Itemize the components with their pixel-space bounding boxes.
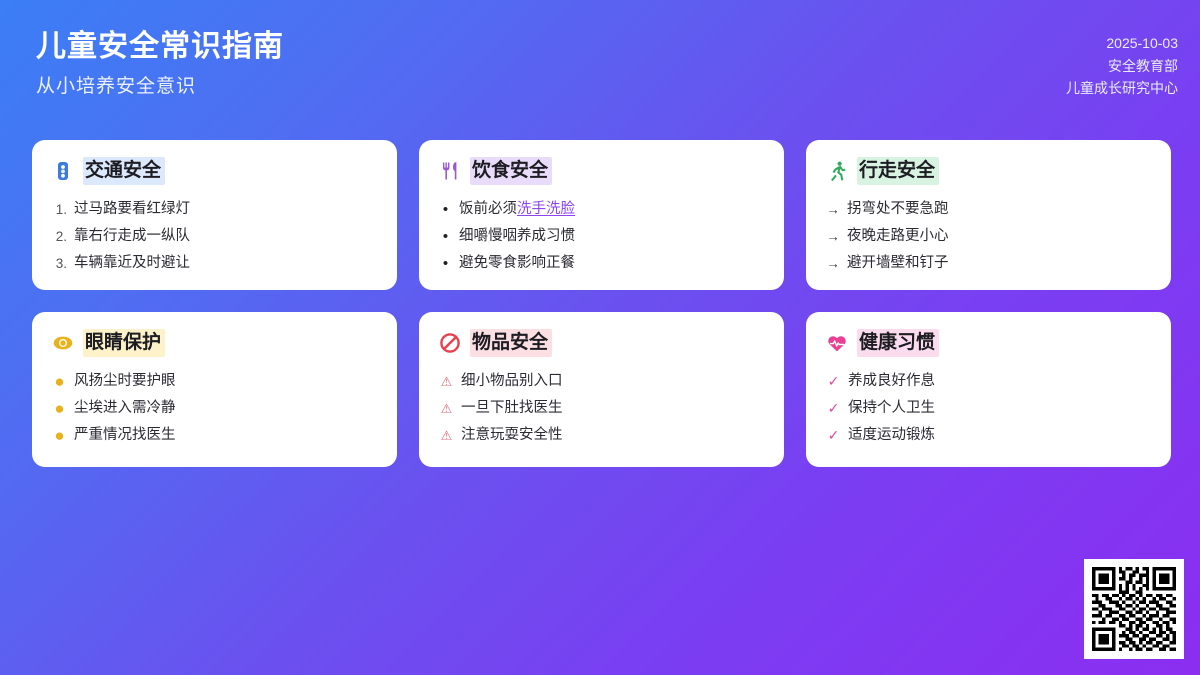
list-marker: ✓ [826,422,841,449]
list-item: ●严重情况找医生 [52,422,377,449]
card-header: 饮食安全 [439,157,764,185]
card-title: 饮食安全 [470,157,552,185]
list-item: 1.过马路要看红绿灯 [52,196,377,223]
list-marker: ⚠ [439,422,454,449]
list-item-text: 避开墙壁和钉子 [847,250,949,277]
list-item-text: 避免零食影响正餐 [459,250,575,277]
card-item-list: 1.过马路要看红绿灯2.靠右行走成一纵队3.车辆靠近及时避让 [52,196,377,277]
list-item-text: 注意玩耍安全性 [461,422,563,449]
list-marker: • [439,196,452,223]
card-item-list: ●风扬尘时要护眼●尘埃进入需冷静●严重情况找医生 [52,368,377,449]
list-item: ⚠注意玩耍安全性 [439,422,764,449]
meta-organization: 儿童成长研究中心 [1066,77,1178,100]
card-title: 行走安全 [857,157,939,185]
list-marker: • [439,250,452,277]
list-item-text: 尘埃进入需冷静 [74,395,176,422]
card-title: 交通安全 [83,157,165,185]
list-item: ✓适度运动锻炼 [826,422,1151,449]
heart-pulse-icon [826,332,848,354]
list-item: ⚠细小物品别入口 [439,368,764,395]
card-title: 健康习惯 [857,329,939,357]
card-diet-safety[interactable]: 饮食安全•饭前必须洗手洗脸•细嚼慢咽养成习惯•避免零食影响正餐 [419,140,784,290]
list-item-text: 拐弯处不要急跑 [847,196,949,223]
list-marker: ● [52,395,67,422]
list-marker: ● [52,368,67,395]
list-marker: ⚠ [439,368,454,395]
list-marker: → [826,196,840,223]
list-item-text: 靠右行走成一纵队 [74,223,190,250]
card-object-safety[interactable]: 物品安全⚠细小物品别入口⚠一旦下肚找医生⚠注意玩耍安全性 [419,312,784,467]
list-item: •细嚼慢咽养成习惯 [439,223,764,250]
card-eye-protection[interactable]: 眼睛保护●风扬尘时要护眼●尘埃进入需冷静●严重情况找医生 [32,312,397,467]
list-marker: ✓ [826,395,841,422]
card-header: 眼睛保护 [52,329,377,357]
list-marker: 3. [52,250,67,277]
card-healthy-habits[interactable]: 健康习惯✓养成良好作息✓保持个人卫生✓适度运动锻炼 [806,312,1171,467]
meta-department: 安全教育部 [1066,55,1178,78]
list-item-text: 过马路要看红绿灯 [74,196,190,223]
inline-link[interactable]: 洗手洗脸 [517,201,575,217]
list-item-text: 车辆靠近及时避让 [74,250,190,277]
list-item-text: 一旦下肚找医生 [461,395,563,422]
list-item-text: 细小物品别入口 [461,368,563,395]
list-marker: ● [52,422,67,449]
list-item: ●尘埃进入需冷静 [52,395,377,422]
qr-code[interactable] [1092,567,1176,651]
list-item: ⚠一旦下肚找医生 [439,395,764,422]
list-item: •避免零食影响正餐 [439,250,764,277]
list-item-text: 细嚼慢咽养成习惯 [459,223,575,250]
list-marker: → [826,250,840,277]
list-item: 3.车辆靠近及时避让 [52,250,377,277]
list-item-text: 适度运动锻炼 [848,422,935,449]
card-title: 物品安全 [470,329,552,357]
running-person-icon [826,160,848,182]
list-item: •饭前必须洗手洗脸 [439,196,764,223]
meta-date: 2025-10-03 [1066,32,1178,55]
card-item-list: →拐弯处不要急跑→夜晚走路更小心→避开墙壁和钉子 [826,196,1151,277]
list-item-text: 风扬尘时要护眼 [74,368,176,395]
fork-knife-icon [439,160,461,182]
header-meta-block: 2025-10-03 安全教育部 儿童成长研究中心 [1066,32,1178,100]
card-header: 健康习惯 [826,329,1151,357]
qr-code-container[interactable] [1084,559,1184,659]
list-marker: → [826,223,840,250]
card-item-list: ✓养成良好作息✓保持个人卫生✓适度运动锻炼 [826,368,1151,449]
list-marker: ✓ [826,368,841,395]
traffic-light-icon [52,160,74,182]
header-title-block: 儿童安全常识指南 从小培养安全意识 [36,28,284,102]
card-walking-safety[interactable]: 行走安全→拐弯处不要急跑→夜晚走路更小心→避开墙壁和钉子 [806,140,1171,290]
list-item-text: 饭前必须洗手洗脸 [459,196,575,223]
list-item: →避开墙壁和钉子 [826,250,1151,277]
page-header: 儿童安全常识指南 从小培养安全意识 2025-10-03 安全教育部 儿童成长研… [0,0,1200,125]
prohibition-icon [439,332,461,354]
list-marker: 2. [52,223,67,250]
list-marker: ⚠ [439,395,454,422]
card-item-list: •饭前必须洗手洗脸•细嚼慢咽养成习惯•避免零食影响正餐 [439,196,764,277]
card-item-list: ⚠细小物品别入口⚠一旦下肚找医生⚠注意玩耍安全性 [439,368,764,449]
card-header: 行走安全 [826,157,1151,185]
list-item: ✓养成良好作息 [826,368,1151,395]
list-item: 2.靠右行走成一纵队 [52,223,377,250]
page-title: 儿童安全常识指南 [36,28,284,66]
page-subtitle: 从小培养安全意识 [36,72,284,102]
card-header: 物品安全 [439,329,764,357]
list-item-text: 严重情况找医生 [74,422,176,449]
safety-card-grid: 交通安全1.过马路要看红绿灯2.靠右行走成一纵队3.车辆靠近及时避让饮食安全•饭… [32,140,1170,467]
list-item-text: 夜晚走路更小心 [847,223,949,250]
list-item-text: 养成良好作息 [848,368,935,395]
card-header: 交通安全 [52,157,377,185]
card-title: 眼睛保护 [83,329,165,357]
list-item: ●风扬尘时要护眼 [52,368,377,395]
list-marker: 1. [52,196,67,223]
list-item-text: 保持个人卫生 [848,395,935,422]
list-item: →夜晚走路更小心 [826,223,1151,250]
list-marker: • [439,223,452,250]
eye-icon [52,332,74,354]
list-item-text-part: 饭前必须 [459,201,517,217]
list-item: →拐弯处不要急跑 [826,196,1151,223]
card-traffic-safety[interactable]: 交通安全1.过马路要看红绿灯2.靠右行走成一纵队3.车辆靠近及时避让 [32,140,397,290]
list-item: ✓保持个人卫生 [826,395,1151,422]
